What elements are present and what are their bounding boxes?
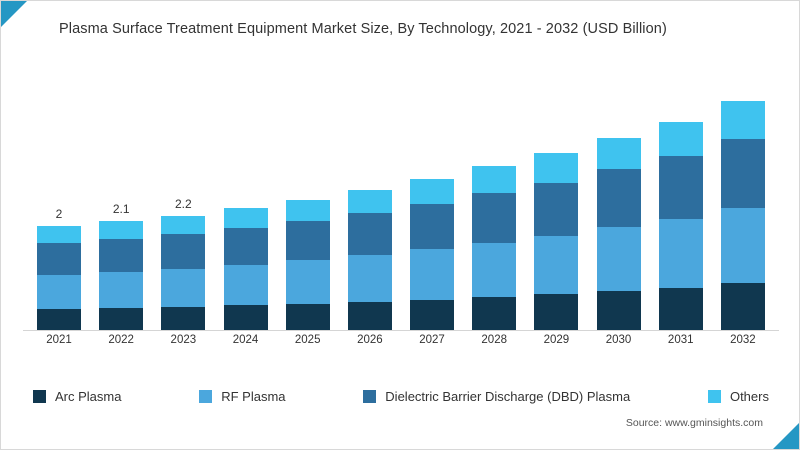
bar-stack[interactable] — [721, 101, 765, 331]
bar-stack[interactable] — [224, 208, 268, 331]
bar-segment[interactable] — [99, 308, 143, 331]
bar-stack[interactable] — [348, 190, 392, 331]
bar-segment[interactable] — [37, 226, 81, 243]
bar-segment[interactable] — [410, 204, 454, 249]
bar-value-label: 2.2 — [175, 197, 192, 211]
bar-column[interactable] — [410, 160, 454, 331]
bar-segment[interactable] — [472, 297, 516, 331]
bar-segment[interactable] — [286, 221, 330, 260]
bar-column[interactable] — [286, 181, 330, 331]
bar-stack[interactable] — [472, 166, 516, 331]
bar-segment[interactable] — [37, 275, 81, 310]
plot-area: 22.12.2 — [31, 61, 771, 331]
bar-segment[interactable] — [534, 294, 578, 331]
x-axis-tick-labels: 2021202220232024202520262027202820292030… — [31, 334, 771, 352]
bar-stack[interactable] — [534, 153, 578, 331]
bar-segment[interactable] — [161, 307, 205, 331]
bar-segment[interactable] — [224, 208, 268, 228]
bar-segment[interactable] — [721, 139, 765, 208]
legend-swatch-icon — [199, 390, 212, 403]
bar-segment[interactable] — [597, 291, 641, 331]
bar-segment[interactable] — [534, 183, 578, 236]
bar-segment[interactable] — [659, 122, 703, 156]
x-axis-line — [23, 330, 779, 331]
bar-column[interactable] — [348, 171, 392, 331]
x-tick-label: 2024 — [224, 334, 268, 352]
x-tick-label: 2030 — [597, 334, 641, 352]
bar-segment[interactable] — [721, 101, 765, 139]
bar-stack[interactable] — [161, 216, 205, 331]
bar-segment[interactable] — [224, 265, 268, 306]
bar-segment[interactable] — [534, 153, 578, 182]
legend-label: Others — [730, 389, 769, 404]
bar-series-container: 22.12.2 — [31, 61, 771, 331]
bar-value-label: 2 — [56, 207, 63, 221]
x-tick-label: 2023 — [161, 334, 205, 352]
x-tick-label: 2025 — [286, 334, 330, 352]
bar-column[interactable]: 2.2 — [161, 197, 205, 331]
legend-item[interactable]: Arc Plasma — [33, 389, 121, 404]
bar-segment[interactable] — [410, 300, 454, 331]
bar-segment[interactable] — [410, 179, 454, 204]
legend-item[interactable]: Dielectric Barrier Discharge (DBD) Plasm… — [363, 389, 630, 404]
bar-stack[interactable] — [37, 226, 81, 331]
bar-column[interactable] — [659, 103, 703, 331]
bar-segment[interactable] — [659, 156, 703, 219]
bar-segment[interactable] — [37, 309, 81, 331]
corner-accent-bottom-right — [773, 423, 799, 449]
bar-segment[interactable] — [348, 190, 392, 213]
bar-segment[interactable] — [99, 239, 143, 272]
bar-column[interactable]: 2 — [37, 207, 81, 331]
bar-segment[interactable] — [286, 260, 330, 303]
legend-item[interactable]: Others — [708, 389, 769, 404]
legend-swatch-icon — [708, 390, 721, 403]
source-note: Source: www.gminsights.com — [626, 417, 763, 429]
bar-segment[interactable] — [659, 219, 703, 288]
chart-legend: Arc PlasmaRF PlasmaDielectric Barrier Di… — [33, 389, 769, 404]
x-tick-label: 2021 — [37, 334, 81, 352]
x-tick-label: 2028 — [472, 334, 516, 352]
bar-segment[interactable] — [472, 243, 516, 297]
bar-value-label: 2.1 — [113, 202, 130, 216]
bar-column[interactable] — [472, 147, 516, 331]
bar-stack[interactable] — [659, 122, 703, 331]
bar-segment[interactable] — [472, 166, 516, 193]
x-tick-label: 2031 — [659, 334, 703, 352]
legend-label: RF Plasma — [221, 389, 285, 404]
bar-segment[interactable] — [534, 236, 578, 295]
bar-stack[interactable] — [286, 200, 330, 331]
x-tick-label: 2027 — [410, 334, 454, 352]
bar-segment[interactable] — [99, 221, 143, 239]
bar-segment[interactable] — [659, 288, 703, 331]
bar-segment[interactable] — [597, 227, 641, 291]
bar-segment[interactable] — [721, 208, 765, 284]
bar-segment[interactable] — [472, 193, 516, 243]
x-tick-label: 2029 — [534, 334, 578, 352]
x-tick-label: 2026 — [348, 334, 392, 352]
bar-column[interactable] — [597, 119, 641, 331]
bar-column[interactable] — [721, 82, 765, 331]
bar-segment[interactable] — [348, 213, 392, 255]
bar-column[interactable] — [534, 134, 578, 331]
bar-segment[interactable] — [597, 169, 641, 227]
bar-stack[interactable] — [99, 221, 143, 331]
x-tick-label: 2032 — [721, 334, 765, 352]
legend-label: Arc Plasma — [55, 389, 121, 404]
bar-segment[interactable] — [161, 269, 205, 307]
bar-column[interactable] — [224, 189, 268, 331]
x-tick-label: 2022 — [99, 334, 143, 352]
bar-column[interactable]: 2.1 — [99, 202, 143, 331]
bar-segment[interactable] — [99, 272, 143, 308]
legend-item[interactable]: RF Plasma — [199, 389, 285, 404]
bar-segment[interactable] — [597, 138, 641, 170]
bar-segment[interactable] — [224, 305, 268, 331]
legend-swatch-icon — [363, 390, 376, 403]
chart-page: Plasma Surface Treatment Equipment Marke… — [0, 0, 800, 450]
bar-segment[interactable] — [37, 243, 81, 274]
bar-segment[interactable] — [410, 249, 454, 299]
bar-stack[interactable] — [410, 179, 454, 331]
bar-segment[interactable] — [161, 216, 205, 234]
bar-segment[interactable] — [286, 200, 330, 221]
legend-swatch-icon — [33, 390, 46, 403]
chart-title: Plasma Surface Treatment Equipment Marke… — [59, 21, 667, 37]
bar-stack[interactable] — [597, 138, 641, 331]
legend-label: Dielectric Barrier Discharge (DBD) Plasm… — [385, 389, 630, 404]
bar-segment[interactable] — [348, 255, 392, 302]
bar-segment[interactable] — [224, 228, 268, 265]
bar-segment[interactable] — [161, 234, 205, 269]
corner-accent-top-left — [1, 1, 27, 27]
bar-segment[interactable] — [721, 283, 765, 331]
bar-segment[interactable] — [286, 304, 330, 331]
bar-segment[interactable] — [348, 302, 392, 331]
